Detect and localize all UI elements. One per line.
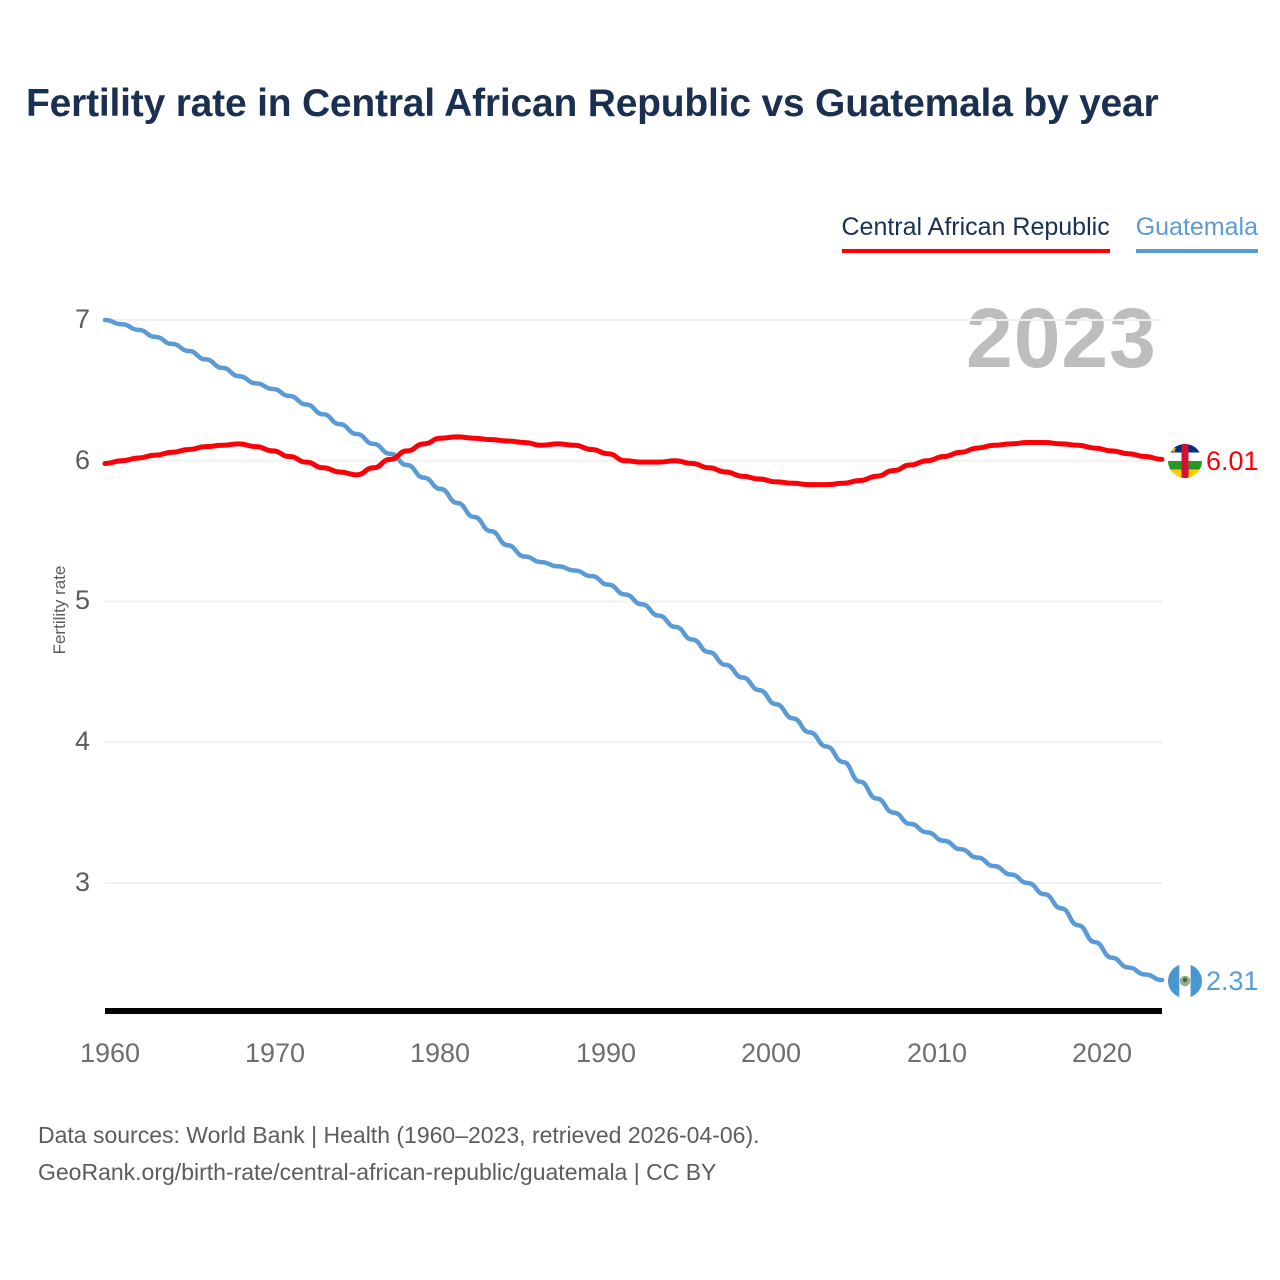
guatemala-flag-icon xyxy=(1168,964,1202,998)
line-series-guatemala xyxy=(105,320,1162,980)
footer-line-2: GeoRank.org/birth-rate/central-african-r… xyxy=(38,1154,760,1191)
x-axis-line xyxy=(105,1008,1162,1014)
central-african-republic-flag-icon xyxy=(1168,444,1202,478)
end-label-central-african-republic: 6.01 xyxy=(1168,444,1259,478)
end-label-value-gt: 2.31 xyxy=(1206,968,1259,995)
footer-line-1: Data sources: World Bank | Health (1960–… xyxy=(38,1117,760,1154)
chart-page: Fertility rate in Central African Republ… xyxy=(0,0,1280,1280)
end-label-guatemala: 2.31 xyxy=(1168,964,1259,998)
end-label-value-car: 6.01 xyxy=(1206,448,1259,475)
chart-plot-area xyxy=(0,0,1280,1280)
footer-sources: Data sources: World Bank | Health (1960–… xyxy=(38,1117,760,1191)
